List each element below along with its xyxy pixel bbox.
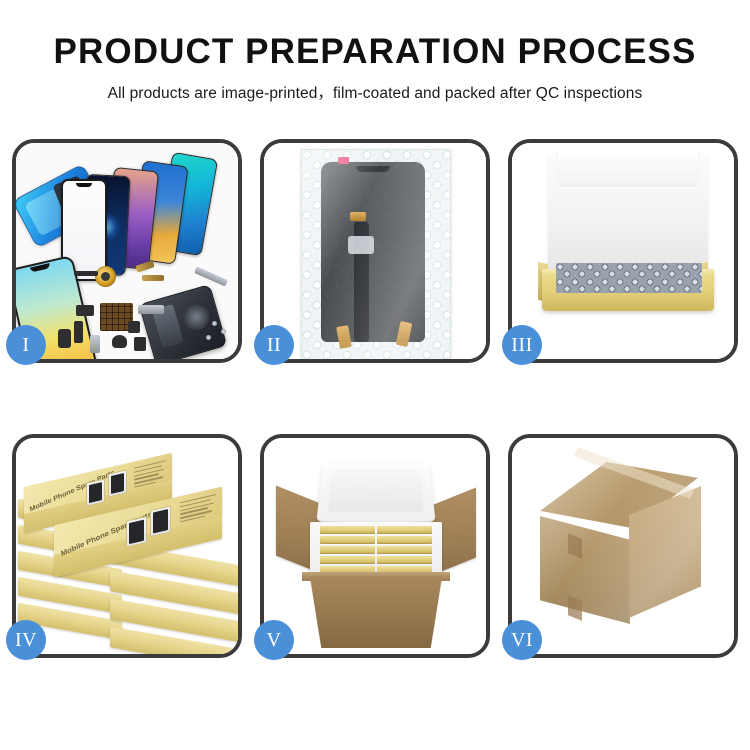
page-title: PRODUCT PREPARATION PROCESS (0, 34, 750, 71)
step-badge-1: I (6, 325, 46, 365)
screw-icon (212, 321, 217, 326)
bubble-wrap-bag-icon (301, 149, 451, 359)
step-badge-2: II (254, 325, 294, 365)
step-5-illustration (264, 438, 486, 654)
process-step-panel-6[interactable]: VI (508, 434, 738, 658)
process-step-panel-3[interactable]: III (508, 139, 738, 363)
page-subtitle: All products are image-printed，film-coat… (0, 81, 750, 103)
camera-module-icon (134, 337, 146, 351)
flex-ribbon-icon (74, 321, 83, 343)
sim-tray-icon (90, 335, 100, 353)
flex-cable-icon (142, 275, 164, 281)
pink-label-icon (338, 157, 349, 164)
step-3-illustration (512, 143, 734, 359)
vibrator-motor-icon (112, 335, 127, 348)
screw-icon (221, 329, 226, 334)
step-2-illustration (264, 143, 486, 359)
process-step-panel-2[interactable]: II (260, 139, 490, 363)
stacked-boxes-icon: Mobile Phone Spare Parts Mobile Phone Sp… (18, 462, 238, 652)
step-6-illustration (512, 438, 734, 654)
step-1-illustration (16, 143, 238, 359)
gold-contact-icon (350, 212, 366, 221)
connector-icon (76, 305, 94, 316)
white-foam-sheet-icon (548, 153, 708, 275)
small-part-icon (128, 321, 140, 333)
step-4-illustration: Mobile Phone Spare Parts Mobile Phone Sp… (16, 438, 238, 654)
bubble-wrapped-contents-icon (556, 263, 702, 293)
battery-connector-icon (58, 329, 71, 348)
carton-body-icon (304, 576, 448, 648)
page-header: PRODUCT PREPARATION PROCESS All products… (0, 0, 750, 103)
part-strip-icon (74, 271, 98, 276)
process-step-panel-5[interactable]: V (260, 434, 490, 658)
process-step-panel-4[interactable]: Mobile Phone Spare Parts Mobile Phone Sp… (12, 434, 242, 658)
carton-tape-tab-icon (568, 595, 582, 621)
metal-bracket-icon (138, 305, 164, 314)
yellow-boxes-inside-icon (320, 526, 432, 574)
screw-icon (206, 335, 211, 340)
foam-lid-icon (316, 462, 436, 522)
step-badge-4: IV (6, 620, 46, 660)
step-badge-5: V (254, 620, 294, 660)
step-badge-6: VI (502, 620, 542, 660)
process-steps-grid: I II (12, 139, 738, 658)
carton-front-face-icon (540, 516, 630, 624)
step-badge-3: III (502, 325, 542, 365)
phone-lineup-icon (40, 155, 230, 273)
process-step-panel-1[interactable]: I (12, 139, 242, 363)
screen-connector-icon (348, 236, 374, 254)
speaker-coil-icon (95, 266, 116, 287)
